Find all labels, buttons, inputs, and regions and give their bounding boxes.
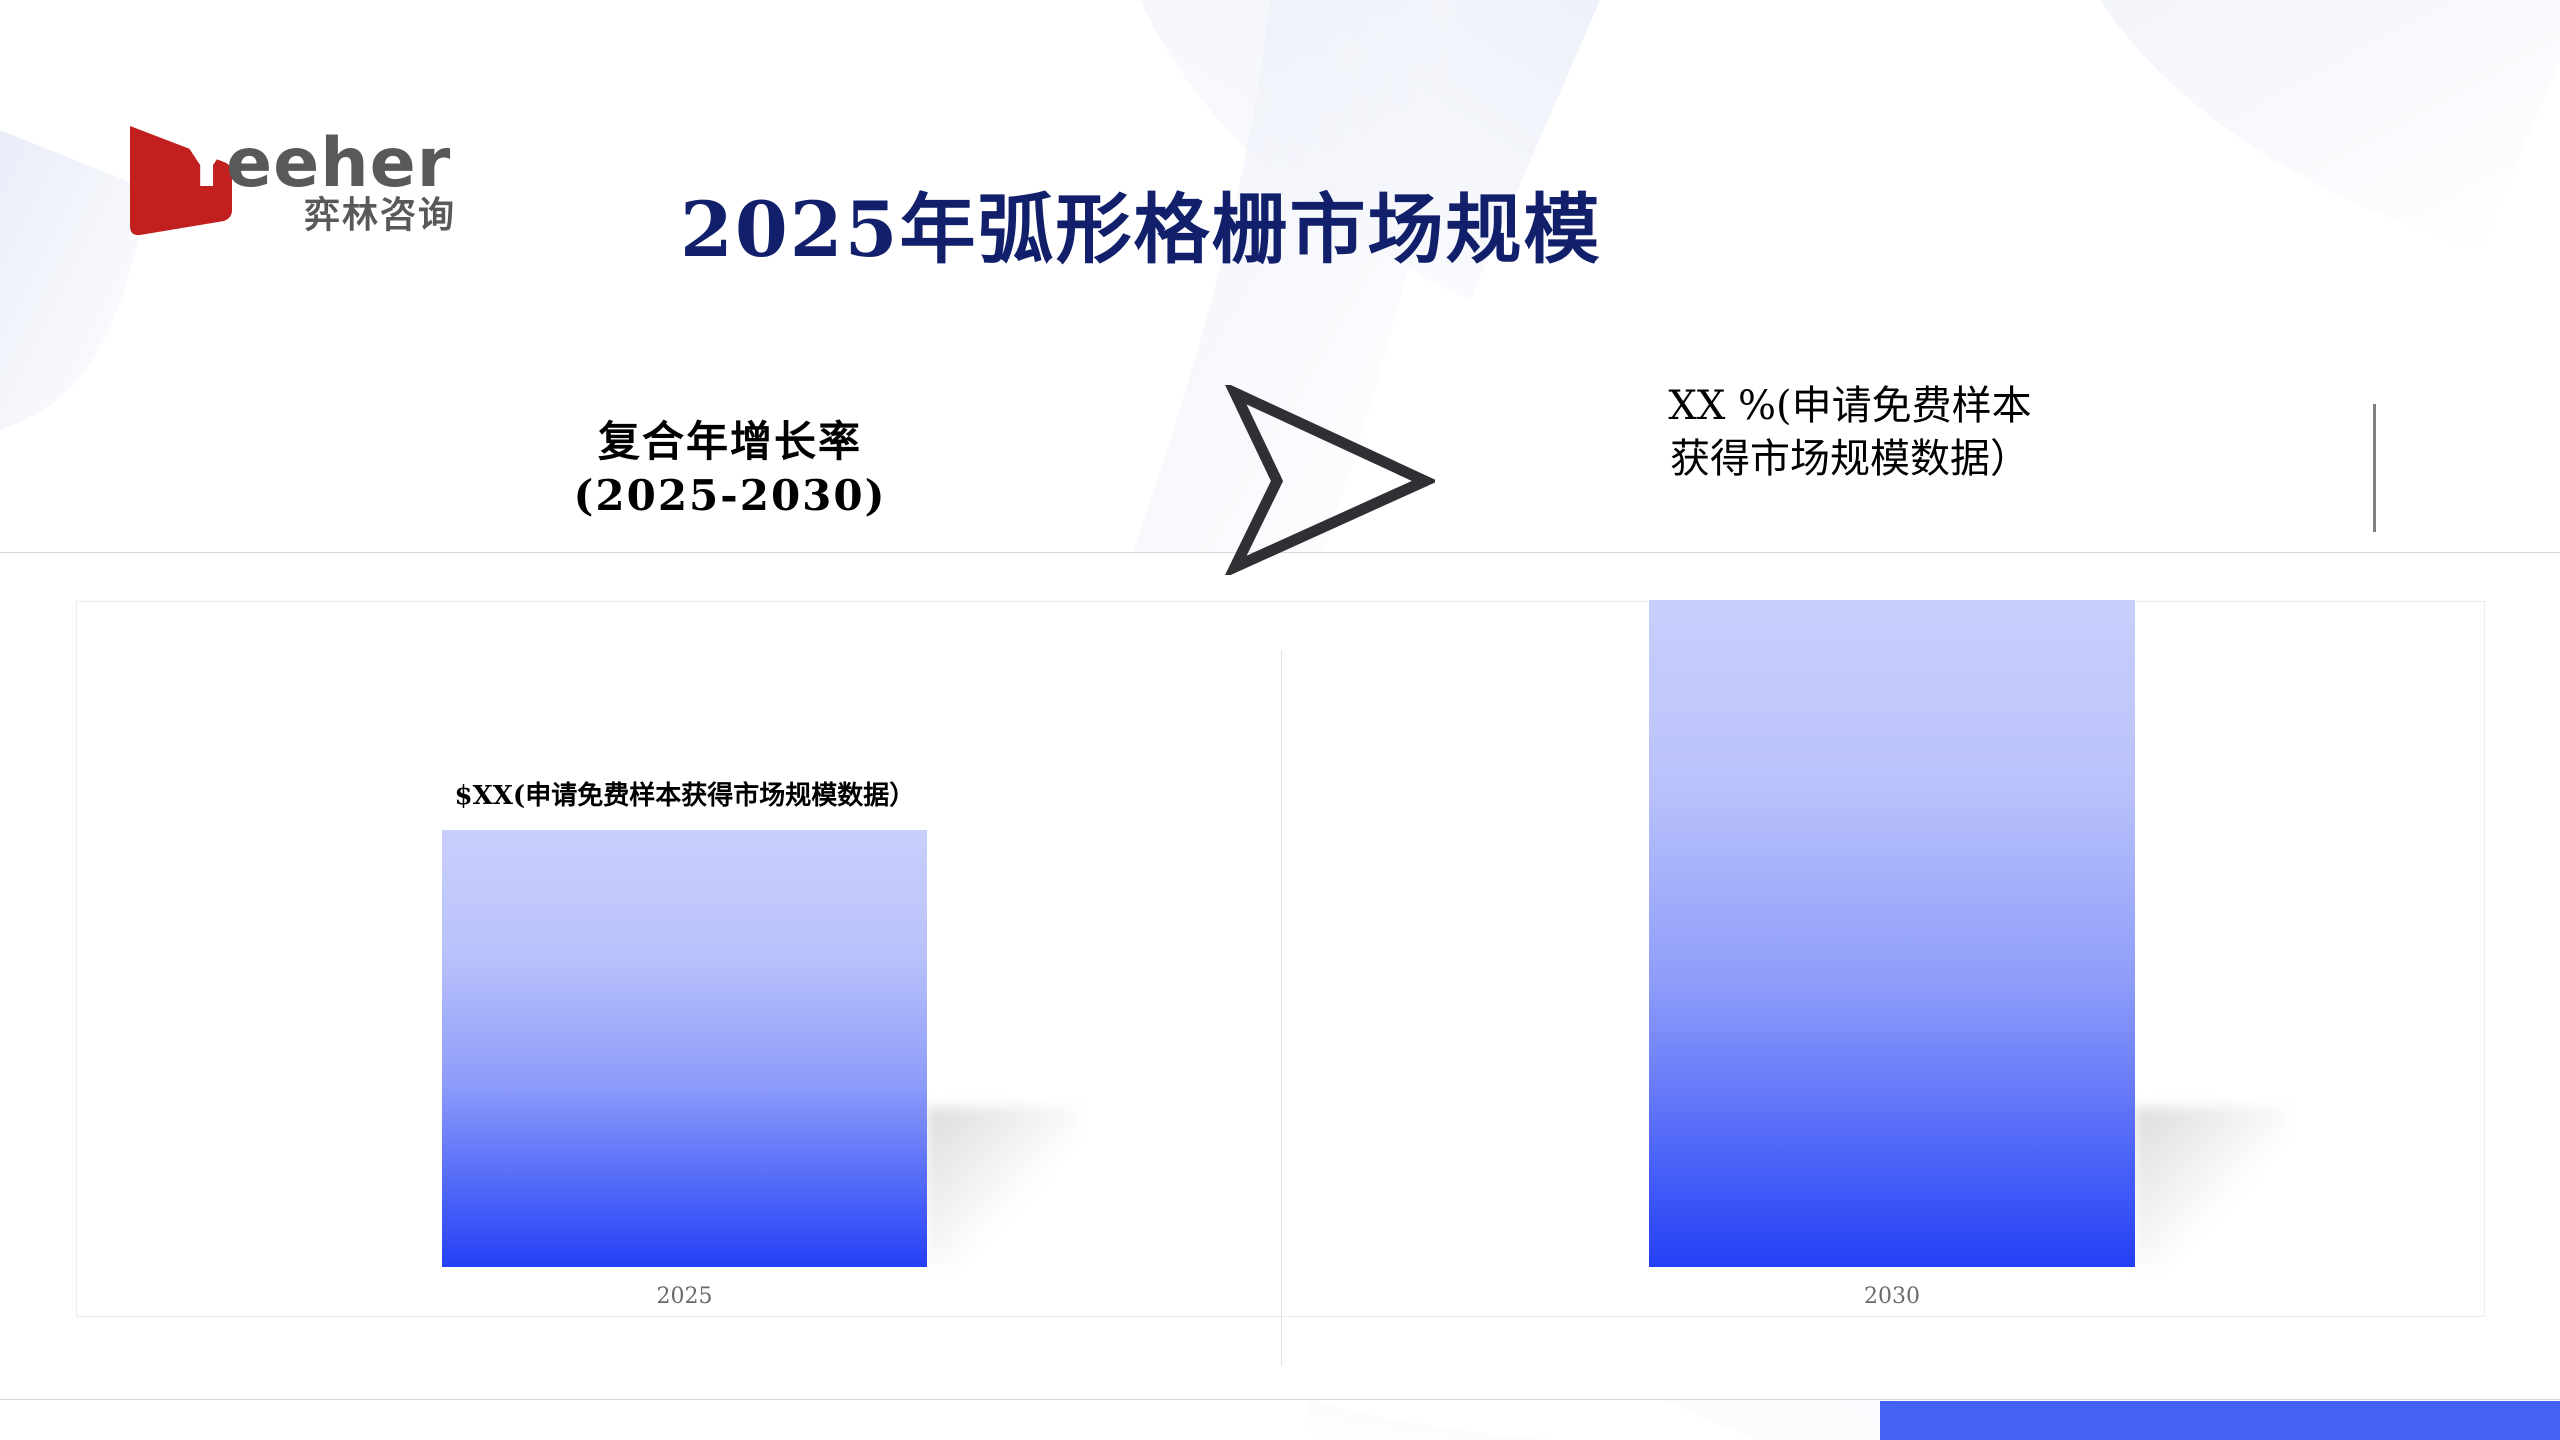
brand-wordmark-lead: Y (182, 124, 226, 203)
bar-x-label-2025: 2025 (657, 1284, 713, 1309)
right-rule-divider (2373, 404, 2376, 532)
bar-rect-2030[interactable] (1649, 600, 2135, 1267)
brand-logo: Yeeher 弈林咨询 (124, 110, 484, 240)
bar-shadow (927, 1107, 1077, 1267)
footer-accent-bar (1880, 1401, 2560, 1440)
cagr-caption: 复合年增长率 (2025-2030) (520, 415, 940, 523)
cagr-value: XX %(申请免费样本 获得市场规模数据） (1600, 380, 2100, 486)
plot-divider (1281, 650, 1282, 1366)
bar-rect-2025[interactable] (442, 830, 927, 1267)
arrow-right-outline-icon (1225, 385, 1435, 575)
plot-area: $XX(申请免费样本获得市场规模数据） 2025 2030 (76, 601, 2485, 1317)
chart-card: $XX(申请免费样本获得市场规模数据） 2025 2030 (0, 552, 2560, 1400)
bar-group-2025: $XX(申请免费样本获得市场规模数据） 2025 (442, 830, 927, 1267)
cagr-caption-line2: (2025-2030) (520, 469, 940, 523)
bar-shadow (2135, 1107, 2285, 1267)
bar-x-label-2030: 2030 (1864, 1284, 1920, 1309)
page-title: 2025年弧形格栅市场规模 (680, 168, 1602, 278)
brand-wordmark-rest: eeher (226, 124, 451, 203)
brand-sub-name: 弈林咨询 (304, 198, 456, 234)
brand-wordmark: Yeeher (182, 130, 451, 198)
cagr-caption-line1: 复合年增长率 (520, 415, 940, 469)
cagr-value-line2: 获得市场规模数据） (1600, 433, 2100, 486)
bar-group-2030: 2030 (1649, 600, 2135, 1267)
cagr-value-line1: XX %(申请免费样本 (1600, 380, 2100, 433)
bar-value-label-2025: $XX(申请免费样本获得市场规模数据） (455, 779, 915, 814)
